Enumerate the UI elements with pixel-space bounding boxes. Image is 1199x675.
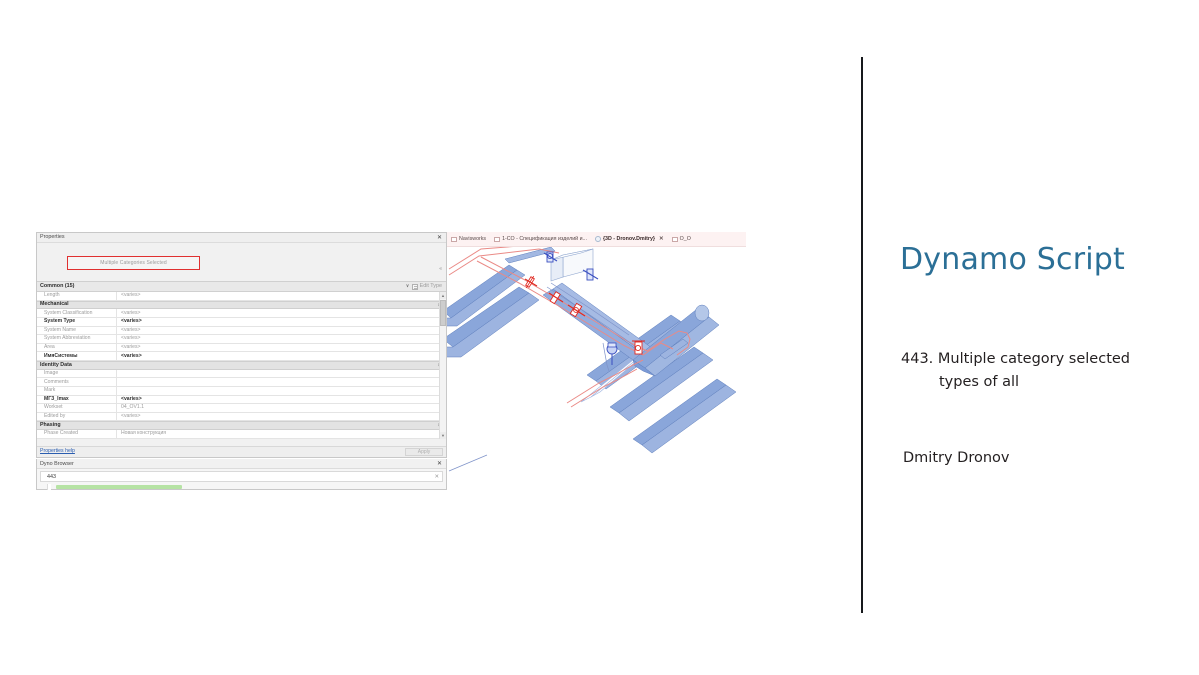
slide-body-line-2: types of all: [901, 371, 1186, 394]
property-value[interactable]: <varies>: [117, 292, 446, 300]
properties-palette-titlebar: Properties ✕: [37, 233, 446, 243]
scroll-down-icon[interactable]: ▼: [440, 432, 446, 439]
slide-author: Dmitry Dronov: [903, 450, 1183, 466]
property-key: System Name: [37, 327, 117, 335]
property-group-header[interactable]: Identity Data↕: [37, 361, 446, 370]
slide-body-text: 443. Multiple category selected types of…: [901, 348, 1186, 395]
dyno-result-highlight[interactable]: [56, 485, 182, 489]
mep-model-graphic: [447, 247, 746, 486]
property-value[interactable]: <varies>: [117, 344, 446, 352]
revit-3d-canvas[interactable]: [447, 247, 746, 486]
revit-view-tabbar[interactable]: Navisworks1-СО - Спецификация изделий и.…: [447, 232, 746, 247]
revit-view-tab-label: O_O: [680, 236, 691, 242]
page-title: Dynamo Script: [900, 242, 1190, 277]
revit-view-tab-label: Navisworks: [459, 236, 486, 242]
property-value[interactable]: <varies>: [117, 413, 446, 421]
property-group-header[interactable]: Mechanical↕: [37, 301, 446, 310]
common-group-label: Common (15): [40, 284, 403, 289]
property-row[interactable]: System Abbreviation<varies>: [37, 335, 446, 344]
property-row[interactable]: МГЗ_Imax<varies>: [37, 396, 446, 405]
vertical-divider-rule: [861, 57, 863, 613]
close-icon[interactable]: ✕: [437, 235, 443, 241]
apply-button[interactable]: Apply: [405, 448, 443, 456]
property-value[interactable]: <varies>: [117, 327, 446, 335]
property-key: Area: [37, 344, 117, 352]
property-value[interactable]: <varies>: [117, 309, 446, 317]
revit-view-tab-label: {3D - Dronov.Dmitry}: [603, 236, 655, 242]
properties-palette: Properties ✕ Multiple Categories Selecte…: [36, 232, 447, 458]
property-row[interactable]: Area<varies>: [37, 344, 446, 353]
dyno-browser-panel: Dyno Browser ✕ 443 ✕: [36, 459, 447, 490]
property-value[interactable]: 04_OV1.1: [117, 404, 446, 412]
revit-screenshot: Properties ✕ Multiple Categories Selecte…: [36, 232, 746, 490]
property-group-label: Phasing: [40, 423, 438, 428]
revit-view-tab[interactable]: O_O: [668, 232, 695, 247]
properties-help-link[interactable]: Properties help: [37, 449, 75, 454]
property-group-header[interactable]: Phasing↕: [37, 421, 446, 430]
revit-view-tab[interactable]: {3D - Dronov.Dmitry}✕: [591, 232, 668, 247]
type-selector-value: Multiple Categories Selected: [100, 261, 166, 266]
property-row[interactable]: Image: [37, 370, 446, 379]
property-row[interactable]: Edited by<varies>: [37, 413, 446, 422]
revit-view-tab[interactable]: 1-СО - Спецификация изделий и...: [490, 232, 591, 247]
property-row[interactable]: Phase CreatedНовая конструкция: [37, 430, 446, 439]
presentation-slide: Properties ✕ Multiple Categories Selecte…: [0, 0, 1199, 675]
property-key: Phase Created: [37, 430, 117, 438]
document-icon: [451, 237, 457, 242]
property-key: Edited by: [37, 413, 117, 421]
edit-type-button[interactable]: Edit Type: [412, 284, 446, 290]
slide-body-line-1: 443. Multiple category selected: [901, 351, 1130, 367]
property-value[interactable]: <varies>: [117, 396, 446, 404]
property-key: System Type: [37, 318, 117, 326]
type-selector-area: Multiple Categories Selected «: [37, 243, 446, 281]
scrollbar-thumb[interactable]: [440, 300, 446, 326]
schedule-icon: [494, 237, 500, 242]
property-value[interactable]: [117, 370, 446, 378]
type-selector[interactable]: Multiple Categories Selected: [67, 256, 200, 270]
property-row[interactable]: Workset04_OV1.1: [37, 404, 446, 413]
property-value[interactable]: Новая конструкция: [117, 430, 446, 438]
property-key: ИмяСистемы: [37, 352, 117, 360]
property-key: System Classification: [37, 309, 117, 317]
property-key: Workset: [37, 404, 117, 412]
properties-grid[interactable]: Length<varies>Mechanical↕System Classifi…: [37, 292, 446, 439]
property-key: Length: [37, 292, 117, 300]
dyno-result-indent: [47, 484, 51, 490]
property-key: Mark: [37, 387, 117, 395]
property-key: Comments: [37, 378, 117, 386]
property-value[interactable]: [117, 378, 446, 386]
edit-type-label: Edit Type: [420, 284, 442, 289]
properties-palette-title: Properties: [40, 235, 437, 240]
revit-view-tab-label: 1-СО - Спецификация изделий и...: [502, 236, 587, 242]
property-key: Image: [37, 370, 117, 378]
collapse-icon[interactable]: «: [439, 267, 442, 272]
close-icon[interactable]: ✕: [437, 460, 443, 467]
close-tab-icon[interactable]: ✕: [657, 236, 664, 242]
revit-view-tab[interactable]: Navisworks: [447, 232, 490, 247]
property-group-label: Identity Data: [40, 363, 438, 368]
scroll-up-icon[interactable]: ▲: [440, 292, 446, 299]
chevron-down-icon[interactable]: ∨: [403, 284, 412, 289]
property-row[interactable]: ИмяСистемы<varies>: [37, 352, 446, 361]
dyno-browser-title: Dyno Browser: [40, 461, 437, 467]
edit-type-icon: [412, 284, 418, 290]
revit-3d-view: Navisworks1-СО - Спецификация изделий и.…: [447, 232, 746, 486]
view3d-icon: [595, 236, 601, 242]
property-value[interactable]: <varies>: [117, 318, 446, 326]
property-key: МГЗ_Imax: [37, 396, 117, 404]
properties-grid-scrollbar[interactable]: ▲ ▼: [439, 292, 446, 439]
property-row[interactable]: System Classification<varies>: [37, 309, 446, 318]
dyno-search-input[interactable]: 443 ✕: [40, 471, 443, 482]
property-value[interactable]: [117, 387, 446, 395]
property-key: System Abbreviation: [37, 335, 117, 343]
property-value[interactable]: <varies>: [117, 352, 446, 360]
common-group-header[interactable]: Common (15) ∨ Edit Type: [37, 281, 446, 292]
dyno-search-value: 443: [47, 474, 56, 480]
dyno-browser-titlebar: Dyno Browser ✕: [37, 459, 446, 469]
property-row[interactable]: System Type<varies>: [37, 318, 446, 327]
property-value[interactable]: <varies>: [117, 335, 446, 343]
property-group-label: Mechanical: [40, 302, 438, 307]
property-row[interactable]: Mark: [37, 387, 446, 396]
clear-search-icon[interactable]: ✕: [434, 474, 439, 480]
property-row[interactable]: Length<varies>: [37, 292, 446, 301]
document-icon: [672, 237, 678, 242]
property-row[interactable]: System Name<varies>: [37, 327, 446, 336]
properties-palette-footer: Properties help Apply: [37, 446, 446, 457]
property-row[interactable]: Comments: [37, 378, 446, 387]
